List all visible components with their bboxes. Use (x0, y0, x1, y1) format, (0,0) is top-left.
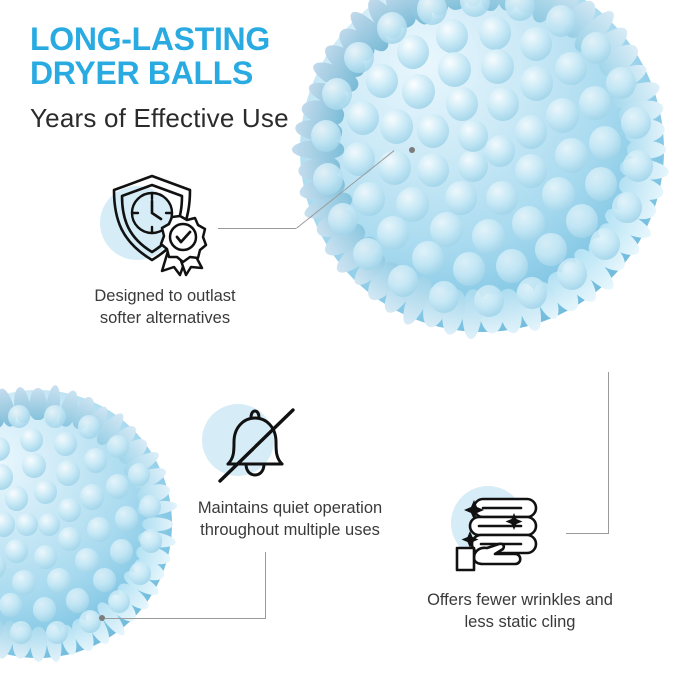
ball-nub (621, 107, 651, 139)
connector-line-feature-1 (218, 228, 296, 229)
ball-nub (108, 590, 130, 613)
ball-nub (380, 109, 413, 144)
ball-nub (353, 182, 385, 216)
ball-nub (115, 506, 138, 530)
ball-nub (430, 212, 463, 247)
ball-nub (606, 67, 636, 99)
ball-nub (47, 568, 71, 593)
ball-nub (412, 241, 444, 275)
ball-nub (378, 150, 411, 185)
ball-nub (110, 539, 133, 563)
ball-nub (128, 463, 150, 486)
ball-nub (612, 192, 642, 224)
ball-nub (5, 539, 28, 563)
page-title: LONG-LASTING DRYER BALLS (30, 22, 450, 90)
ball-nub (353, 238, 383, 270)
ball-nub (20, 428, 43, 452)
feature-caption-durability: Designed to outlast softer alternatives (30, 285, 300, 329)
award-ribbon (161, 216, 206, 275)
ball-nub (446, 87, 478, 121)
ball-nub (347, 101, 379, 135)
ball-nub (485, 135, 515, 167)
ball-nub (557, 258, 587, 290)
ball-spike (30, 627, 47, 662)
ball-nub (472, 219, 505, 254)
ball-nub (58, 527, 81, 551)
ball-nub (33, 597, 56, 621)
connector-line-feature-2-horizontal (105, 618, 266, 619)
ball-nub (66, 588, 89, 612)
ball-nub (5, 486, 28, 510)
title-line-1: LONG-LASTING (30, 22, 450, 56)
ball-nub (84, 448, 107, 472)
connector-line-feature-2-vertical (265, 552, 266, 618)
ball-nub (429, 281, 459, 313)
ball-nub (453, 252, 485, 286)
ball-nub (566, 204, 598, 238)
ball-nub (396, 187, 429, 222)
connector-dot-feature-1 (409, 147, 415, 153)
ball-nub (486, 181, 518, 215)
ball-nub (487, 87, 519, 121)
feature-caption-wrinkles: Offers fewer wrinkles and less static cl… (380, 589, 660, 633)
ball-nub (78, 415, 100, 438)
ball-nub (581, 32, 611, 64)
connector-line-feature-3-vertical (608, 372, 609, 533)
ball-nub (75, 548, 99, 573)
ball-nub (388, 265, 418, 297)
ball-nub (555, 52, 587, 86)
ball-nub (585, 167, 617, 201)
ball-nub (44, 405, 66, 428)
ball-nub (417, 0, 447, 25)
shield-clock-badge-icon (98, 168, 218, 280)
ball-nub (313, 163, 343, 195)
caption-line-2: less static cling (465, 613, 576, 631)
ball-nub (515, 154, 547, 188)
ball-nub (46, 621, 68, 644)
caption-line-1: Offers fewer wrinkles and (427, 591, 613, 609)
ball-nub (590, 228, 620, 260)
caption-line-2: throughout multiple uses (200, 521, 380, 539)
ball-nub (311, 120, 341, 152)
page-subtitle: Years of Effective Use (30, 103, 289, 134)
ball-nub (515, 115, 547, 149)
feature-icon-wrinkles (443, 470, 563, 582)
ball-nub (106, 474, 129, 498)
caption-line-1: Designed to outlast (94, 287, 235, 305)
infographic-canvas: LONG-LASTING DRYER BALLS Years of Effect… (0, 0, 679, 679)
ball-nub (458, 150, 488, 182)
bell-muted-icon (198, 398, 318, 510)
caption-line-1: Maintains quiet operation (198, 499, 382, 517)
ball-nub (80, 484, 104, 509)
title-line-2: DRYER BALLS (30, 56, 450, 90)
ball-nub (417, 153, 449, 187)
ball-nub (343, 142, 375, 176)
ball-nub (328, 203, 358, 235)
ball-nub (496, 249, 528, 283)
ball-nub (56, 460, 80, 485)
ball-nub (445, 181, 477, 215)
ball-nub (579, 86, 611, 120)
feature-caption-quiet: Maintains quiet operation throughout mul… (140, 497, 440, 541)
caption-line-2: softer alternatives (100, 309, 230, 327)
ball-nub (479, 16, 511, 50)
ball-nub (555, 138, 588, 173)
ball-nub (589, 126, 621, 160)
ball-nub (474, 285, 504, 317)
ball-nub (38, 513, 60, 536)
connector-line-feature-3-horizontal (566, 533, 609, 534)
ball-nub (458, 120, 488, 152)
feature-icon-quiet (198, 398, 318, 510)
hand-folded-towels-icon (443, 470, 563, 582)
ball-nub (546, 98, 579, 133)
ball-nub (520, 66, 553, 101)
ball-nub (129, 562, 151, 585)
feature-icon-durability (98, 168, 218, 280)
ball-nub (546, 5, 576, 37)
ball-nub (481, 49, 514, 84)
ball-nub (623, 150, 653, 182)
